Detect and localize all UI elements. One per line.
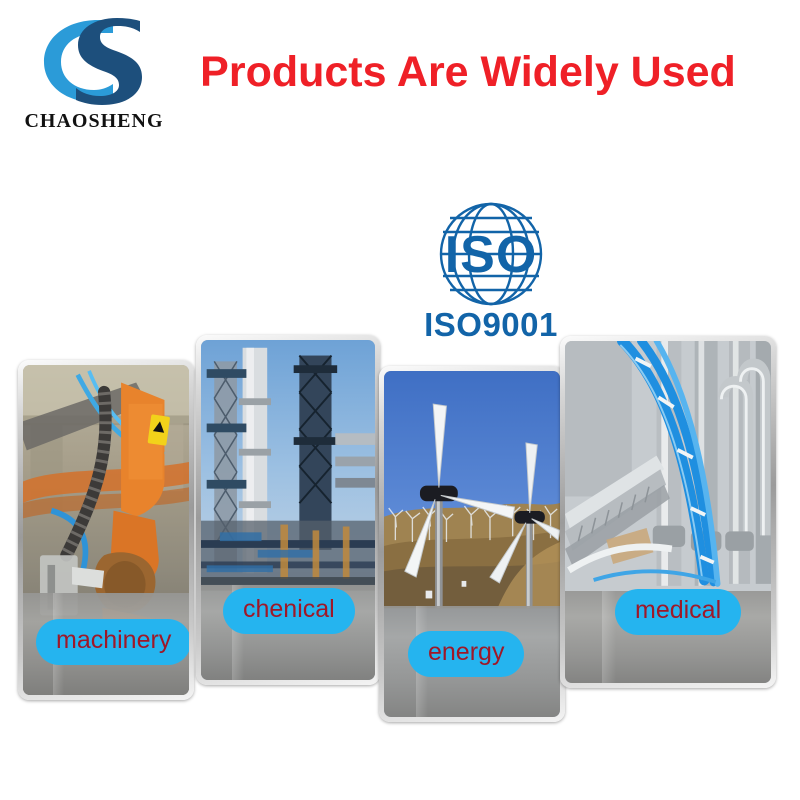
panel-label-text: machinery	[56, 628, 171, 653]
panel-inner: energy	[384, 371, 560, 717]
product-panel-medical[interactable]: medical	[560, 336, 776, 688]
panel-label-chemical[interactable]: chenical	[223, 588, 355, 634]
product-panel-machinery[interactable]: machinery	[18, 360, 194, 700]
panel-label-machinery[interactable]: machinery	[36, 619, 189, 665]
page-title: Products Are Widely Used	[168, 46, 768, 98]
panel-label-medical[interactable]: medical	[615, 589, 741, 635]
iso-certification-badge: ISO ISO9001	[406, 198, 576, 346]
panel-inner: chenical	[201, 340, 375, 680]
brand-wordmark: CHAOSHENG	[14, 110, 174, 133]
product-panel-energy[interactable]: energy	[379, 366, 565, 722]
brand-logo: CHAOSHENG	[14, 12, 174, 134]
panel-label-text: medical	[635, 598, 721, 623]
panel-label-text: chenical	[243, 597, 335, 622]
iso-globe-icon: ISO	[418, 198, 564, 310]
product-panel-chemical[interactable]: chenical	[196, 335, 380, 685]
panel-label-energy[interactable]: energy	[408, 631, 524, 677]
chaosheng-monogram-icon	[14, 12, 174, 108]
iso-standard-label: ISO9001	[406, 306, 576, 344]
panel-inner: medical	[565, 341, 771, 683]
panel-inner: machinery	[23, 365, 189, 695]
panel-label-text: energy	[428, 640, 504, 665]
